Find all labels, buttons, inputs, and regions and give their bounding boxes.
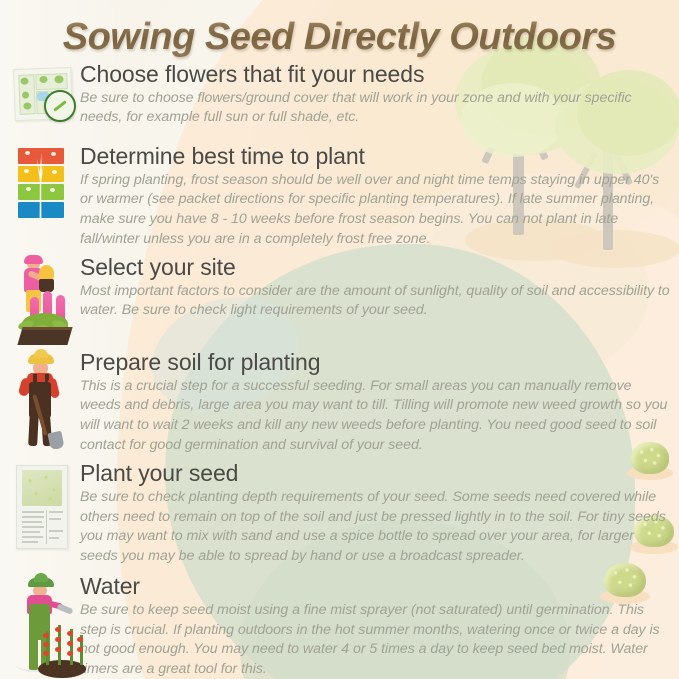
step-title: Choose flowers that fit your needs xyxy=(80,62,671,88)
packet-illustration xyxy=(16,465,68,549)
step-text: Be sure to choose flowers/ground cover t… xyxy=(80,89,671,128)
gardener-watering-icon xyxy=(6,576,78,679)
step-body: Choose flowers that fit your needs Be su… xyxy=(78,62,671,128)
step-item: Choose flowers that fit your needs Be su… xyxy=(0,62,679,136)
step-text: Most important factors to consider are t… xyxy=(80,282,671,321)
compass-icon xyxy=(44,90,76,122)
gardener-with-shovel-icon xyxy=(6,352,78,454)
step-title: Prepare soil for planting xyxy=(80,350,671,376)
infographic-poster: Sowing Seed Directly Outdoors xyxy=(0,0,679,679)
step-text: If spring planting, frost season should … xyxy=(80,171,671,249)
garden-plan-map-icon xyxy=(6,64,78,136)
step-body: Water Be sure to keep seed moist using a… xyxy=(78,574,671,679)
planter-illustration xyxy=(12,257,74,345)
seasons-illustration xyxy=(18,148,64,222)
step-text: Be sure to keep seed moist using a fine … xyxy=(80,601,671,679)
watering-illustration xyxy=(12,576,86,678)
page-title: Sowing Seed Directly Outdoors xyxy=(0,16,679,59)
step-title: Water xyxy=(80,574,671,600)
step-body: Prepare soil for planting This is a cruc… xyxy=(78,350,671,455)
step-text: Be sure to check planting depth requirem… xyxy=(80,488,671,566)
step-text: This is a crucial step for a successful … xyxy=(80,377,671,455)
step-item: Determine best time to plant If spring p… xyxy=(0,144,679,249)
seed-packet-icon xyxy=(6,463,78,561)
step-item: Plant your seed Be sure to check plantin… xyxy=(0,461,679,566)
step-title: Determine best time to plant xyxy=(80,144,671,170)
step-item: Water Be sure to keep seed moist using a… xyxy=(0,574,679,679)
woman-with-planter-icon xyxy=(6,257,78,343)
step-title: Select your site xyxy=(80,255,671,281)
step-body: Determine best time to plant If spring p… xyxy=(78,144,671,249)
four-seasons-icon xyxy=(6,146,78,238)
step-item: Select your site Most important factors … xyxy=(0,255,679,343)
step-title: Plant your seed xyxy=(80,461,671,487)
gardener-illustration xyxy=(16,352,74,452)
step-item: Prepare soil for planting This is a cruc… xyxy=(0,350,679,455)
step-body: Plant your seed Be sure to check plantin… xyxy=(78,461,671,566)
steps-list: Choose flowers that fit your needs Be su… xyxy=(0,62,679,679)
step-body: Select your site Most important factors … xyxy=(78,255,671,321)
